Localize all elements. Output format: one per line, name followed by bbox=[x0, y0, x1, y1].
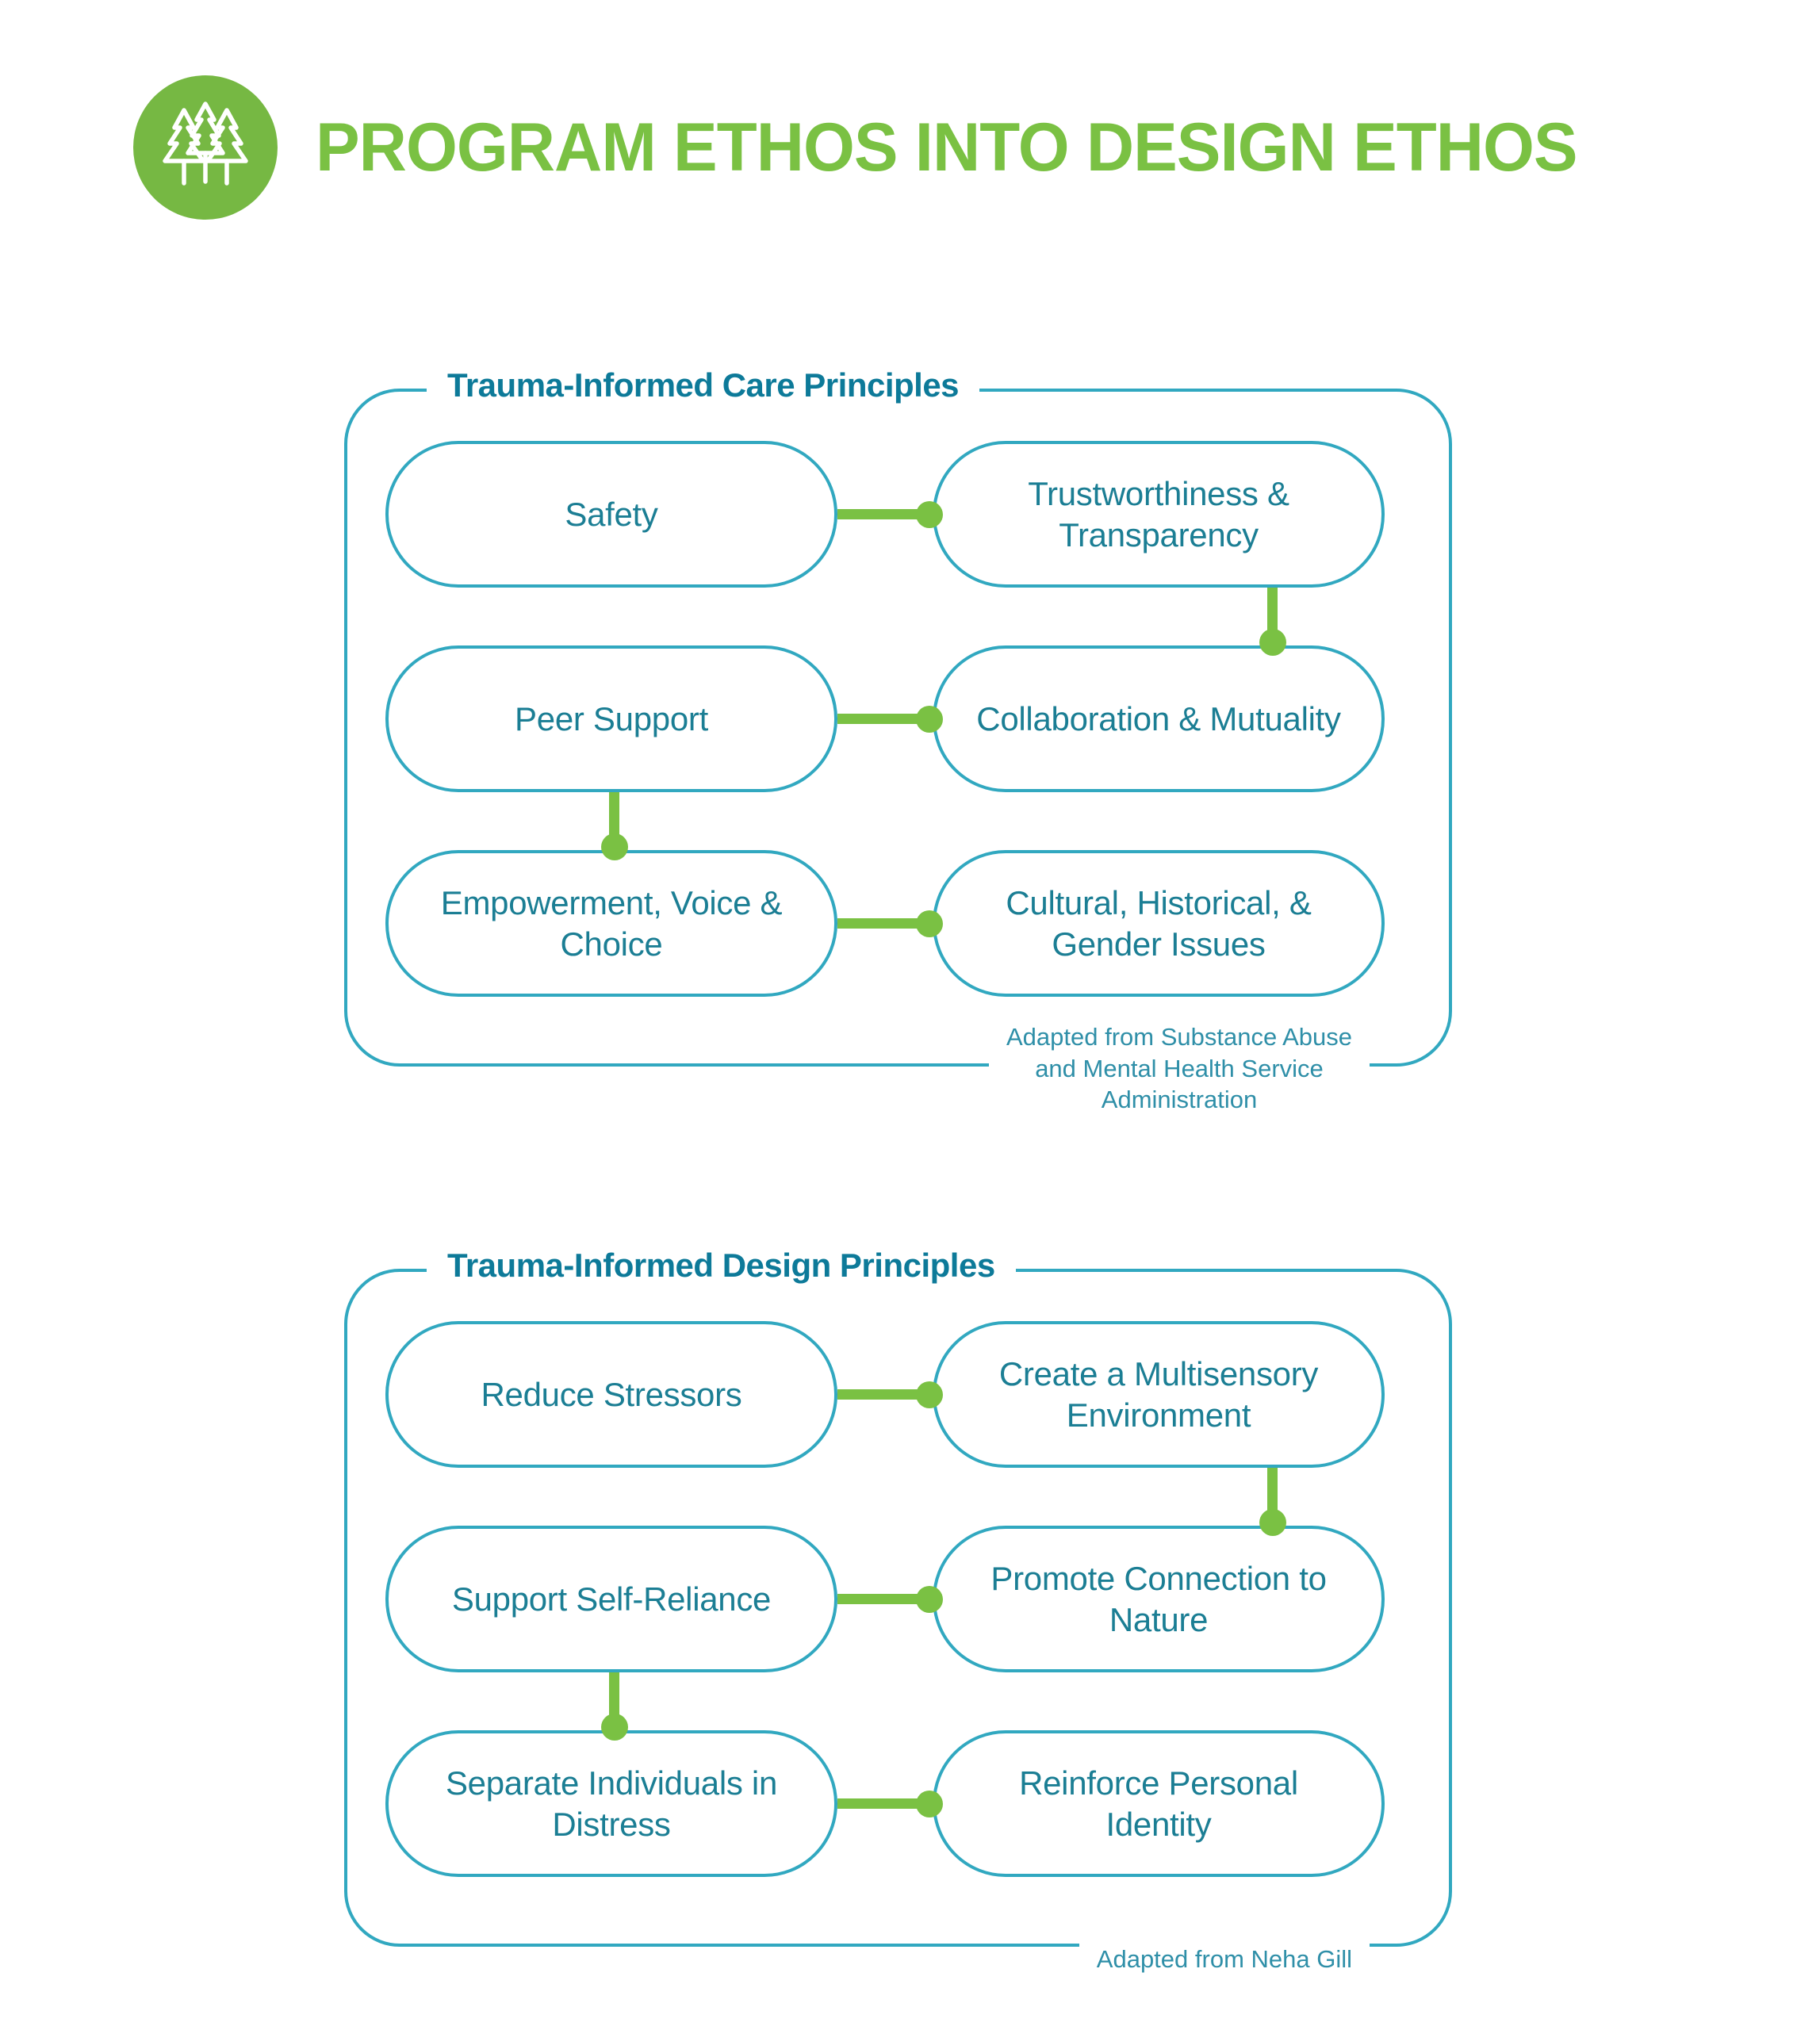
connector-dot bbox=[916, 501, 943, 528]
connector-dot bbox=[1259, 629, 1286, 656]
connector-horizontal-row1 bbox=[837, 509, 933, 519]
connector-dot bbox=[601, 833, 628, 860]
node-label: Cultural, Historical, & Gender Issues bbox=[963, 883, 1354, 963]
node-label: Trustworthiness & Transparency bbox=[963, 473, 1354, 554]
panel-legend-care: Trauma-Informed Care Principles bbox=[427, 366, 979, 404]
panel-trauma-informed-care: Trauma-Informed Care Principles Safety T… bbox=[344, 389, 1452, 1067]
page-header: PROGRAM ETHOS INTO DESIGN ETHOS bbox=[133, 75, 1616, 220]
node-grid-design: Reduce Stressors Create a Multisensory E… bbox=[385, 1321, 1414, 1876]
node-support-self-reliance[interactable]: Support Self-Reliance bbox=[385, 1526, 837, 1672]
page-title: PROGRAM ETHOS INTO DESIGN ETHOS bbox=[316, 113, 1577, 182]
node-label: Peer Support bbox=[515, 699, 708, 739]
node-collaboration-mutuality[interactable]: Collaboration & Mutuality bbox=[933, 645, 1385, 792]
connector-horizontal-row3 bbox=[837, 918, 933, 929]
node-label: Reduce Stressors bbox=[481, 1374, 741, 1415]
three-pine-trees-icon bbox=[133, 75, 278, 220]
connector-dot bbox=[601, 1714, 628, 1741]
node-cultural-historical-gender-issues[interactable]: Cultural, Historical, & Gender Issues bbox=[933, 850, 1385, 997]
node-label: Reinforce Personal Identity bbox=[963, 1763, 1354, 1844]
connector-horizontal-row1 bbox=[837, 1389, 933, 1400]
node-safety[interactable]: Safety bbox=[385, 441, 837, 588]
connector-dot bbox=[1259, 1509, 1286, 1536]
connector-vertical-right-row1-row2 bbox=[1267, 1468, 1278, 1526]
connector-horizontal-row3 bbox=[837, 1798, 933, 1809]
node-grid-care: Safety Trustworthiness & Transparency Pe… bbox=[385, 441, 1414, 996]
connector-dot bbox=[916, 1586, 943, 1613]
panel-caption-care: Adapted from Substance Abuse and Mental … bbox=[989, 1021, 1370, 1116]
connector-vertical-right-row1-row2 bbox=[1267, 588, 1278, 645]
node-peer-support[interactable]: Peer Support bbox=[385, 645, 837, 792]
connector-dot bbox=[916, 910, 943, 937]
connector-vertical-left-row2-row3 bbox=[609, 792, 619, 850]
connector-horizontal-row2 bbox=[837, 714, 933, 724]
node-reduce-stressors[interactable]: Reduce Stressors bbox=[385, 1321, 837, 1468]
panel-trauma-informed-design: Trauma-Informed Design Principles Reduce… bbox=[344, 1269, 1452, 1947]
node-promote-connection-to-nature[interactable]: Promote Connection to Nature bbox=[933, 1526, 1385, 1672]
connector-horizontal-row2 bbox=[837, 1594, 933, 1604]
panel-legend-design: Trauma-Informed Design Principles bbox=[427, 1247, 1016, 1285]
node-label: Collaboration & Mutuality bbox=[976, 699, 1340, 739]
node-label: Support Self-Reliance bbox=[452, 1579, 771, 1619]
node-separate-individuals-in-distress[interactable]: Separate Individuals in Distress bbox=[385, 1730, 837, 1877]
node-create-multisensory-environment[interactable]: Create a Multisensory Environment bbox=[933, 1321, 1385, 1468]
node-label: Empowerment, Voice & Choice bbox=[416, 883, 807, 963]
panel-caption-design: Adapted from Neha Gill bbox=[1079, 1944, 1370, 1975]
node-label: Create a Multisensory Environment bbox=[963, 1354, 1354, 1434]
connector-dot bbox=[916, 1381, 943, 1408]
connector-vertical-left-row2-row3 bbox=[609, 1672, 619, 1730]
connector-dot bbox=[916, 706, 943, 733]
node-empowerment-voice-choice[interactable]: Empowerment, Voice & Choice bbox=[385, 850, 837, 997]
node-label: Promote Connection to Nature bbox=[963, 1558, 1354, 1639]
node-label: Separate Individuals in Distress bbox=[416, 1763, 807, 1844]
node-trustworthiness-transparency[interactable]: Trustworthiness & Transparency bbox=[933, 441, 1385, 588]
node-label: Safety bbox=[565, 494, 657, 534]
connector-dot bbox=[916, 1791, 943, 1817]
node-reinforce-personal-identity[interactable]: Reinforce Personal Identity bbox=[933, 1730, 1385, 1877]
